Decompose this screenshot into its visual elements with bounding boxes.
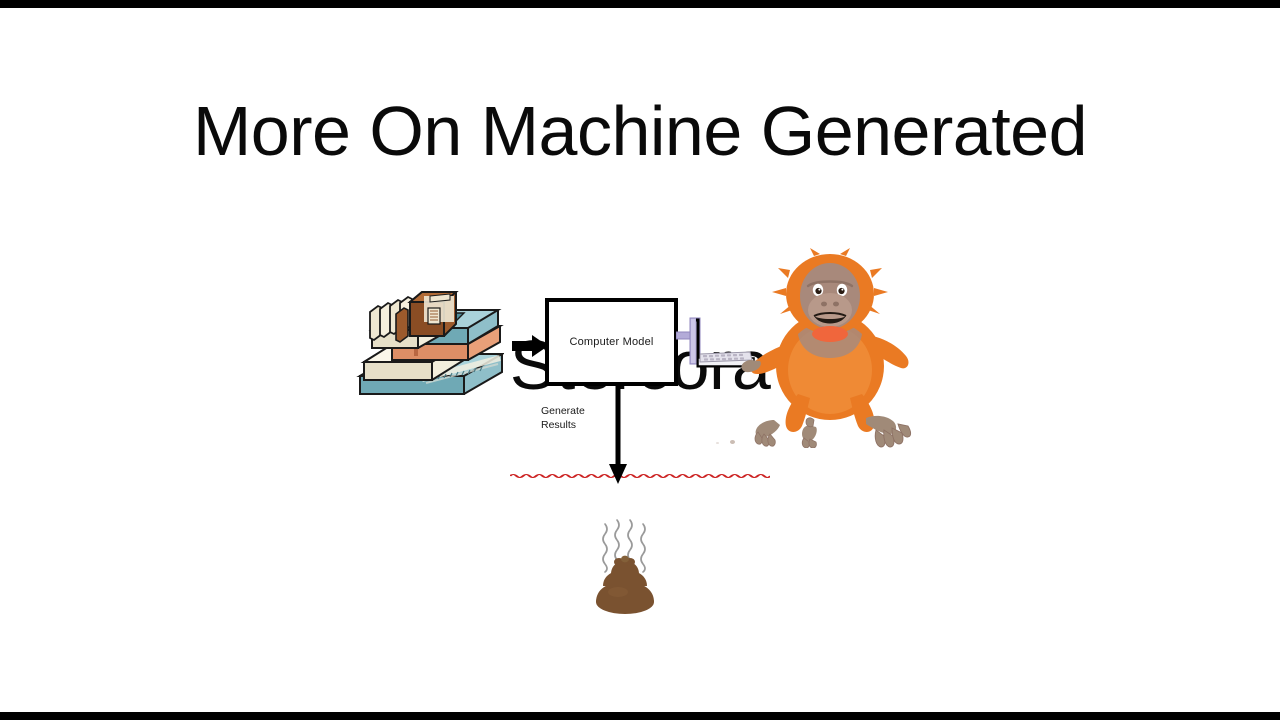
slide-canvas: More On Machine Generated Stercora bbox=[0, 0, 1280, 720]
letterbox-bar-top bbox=[0, 0, 1280, 8]
orangutan-icon bbox=[740, 248, 920, 448]
slide-content-area: More On Machine Generated Stercora bbox=[0, 8, 1280, 712]
process-diagram: Computer Model bbox=[0, 8, 1280, 712]
books-stack-icon bbox=[352, 280, 504, 398]
computer-model-label: Computer Model bbox=[549, 302, 674, 382]
letterbox-bar-bottom bbox=[0, 712, 1280, 720]
poop-pile-icon bbox=[592, 516, 658, 614]
computer-model-box[interactable]: Computer Model bbox=[545, 298, 678, 386]
output-arrow-icon bbox=[605, 384, 631, 486]
artifact-speck-small bbox=[716, 442, 719, 444]
artifact-speck bbox=[730, 440, 735, 444]
generate-results-label: Generate Results bbox=[541, 404, 607, 432]
